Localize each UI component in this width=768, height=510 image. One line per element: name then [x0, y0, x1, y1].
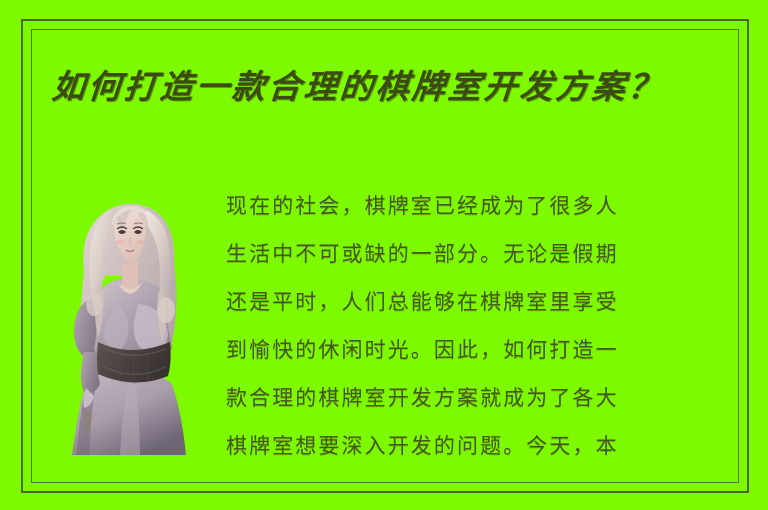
portrait-illustration-icon — [46, 192, 203, 455]
body-line: 生活中不可或缺的一部分。无论是假期 — [226, 230, 720, 278]
article-poster-page: { "theme": { "background_color": "#7dfa0… — [0, 0, 768, 510]
article-figure — [46, 192, 203, 455]
body-line: 到愉快的休闲时光。因此，如何打造一 — [226, 326, 720, 374]
body-line: 棋牌室想要深入开发的问题。今天，本 — [226, 422, 720, 470]
article-body: 现在的社会，棋牌室已经成为了很多人 生活中不可或缺的一部分。无论是假期 还是平时… — [226, 182, 720, 470]
body-line: 现在的社会，棋牌室已经成为了很多人 — [226, 182, 720, 230]
page-title: 如何打造一款合理的棋牌室开发方案？ — [49, 56, 714, 118]
body-line: 还是平时，人们总能够在棋牌室里享受 — [226, 278, 720, 326]
body-line: 款合理的棋牌室开发方案就成为了各大 — [226, 374, 720, 422]
